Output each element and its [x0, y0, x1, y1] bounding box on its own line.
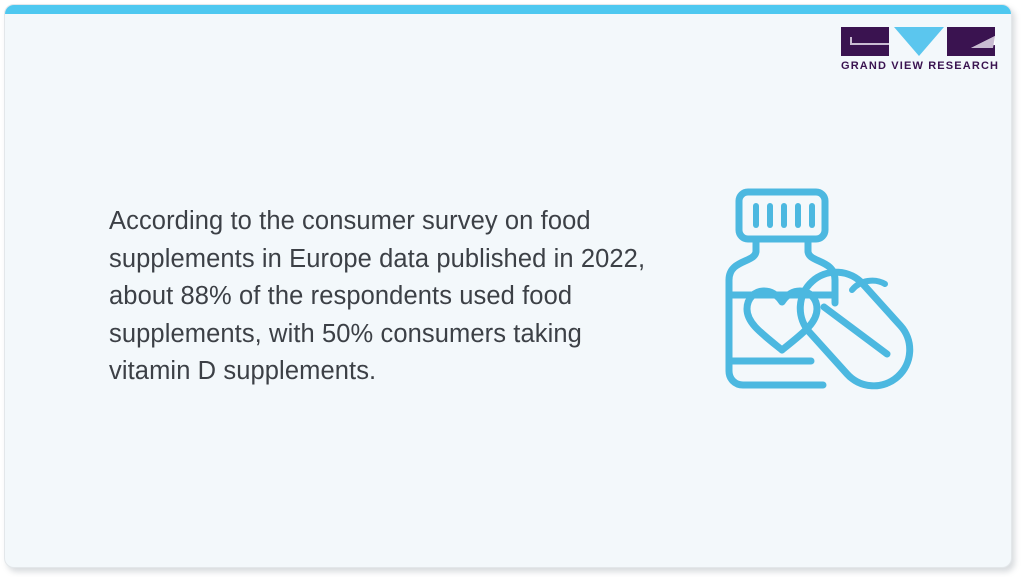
- supplement-bottle-and-capsule-icon: [711, 183, 931, 395]
- bottle-body-left: [729, 251, 823, 385]
- statement-text: According to the consumer survey on food…: [109, 203, 669, 391]
- logo-block-left-icon: [841, 27, 889, 56]
- accent-top-bar: [5, 5, 1011, 14]
- logo-marks: [841, 27, 995, 57]
- info-card: GRAND VIEW RESEARCH According to the con…: [4, 4, 1012, 568]
- capsule-divider: [824, 307, 887, 354]
- brand-logo[interactable]: GRAND VIEW RESEARCH: [841, 27, 995, 79]
- heart-icon: [747, 291, 817, 350]
- logo-right-arrow-icon: [953, 32, 995, 52]
- logo-block-right-icon: [947, 27, 995, 56]
- supplement-illustration: [711, 183, 931, 395]
- logo-left-line: [850, 43, 889, 45]
- logo-triangle-icon: [894, 27, 944, 56]
- brand-name: GRAND VIEW RESEARCH: [841, 60, 995, 72]
- screenshot-root: GRAND VIEW RESEARCH According to the con…: [0, 0, 1025, 577]
